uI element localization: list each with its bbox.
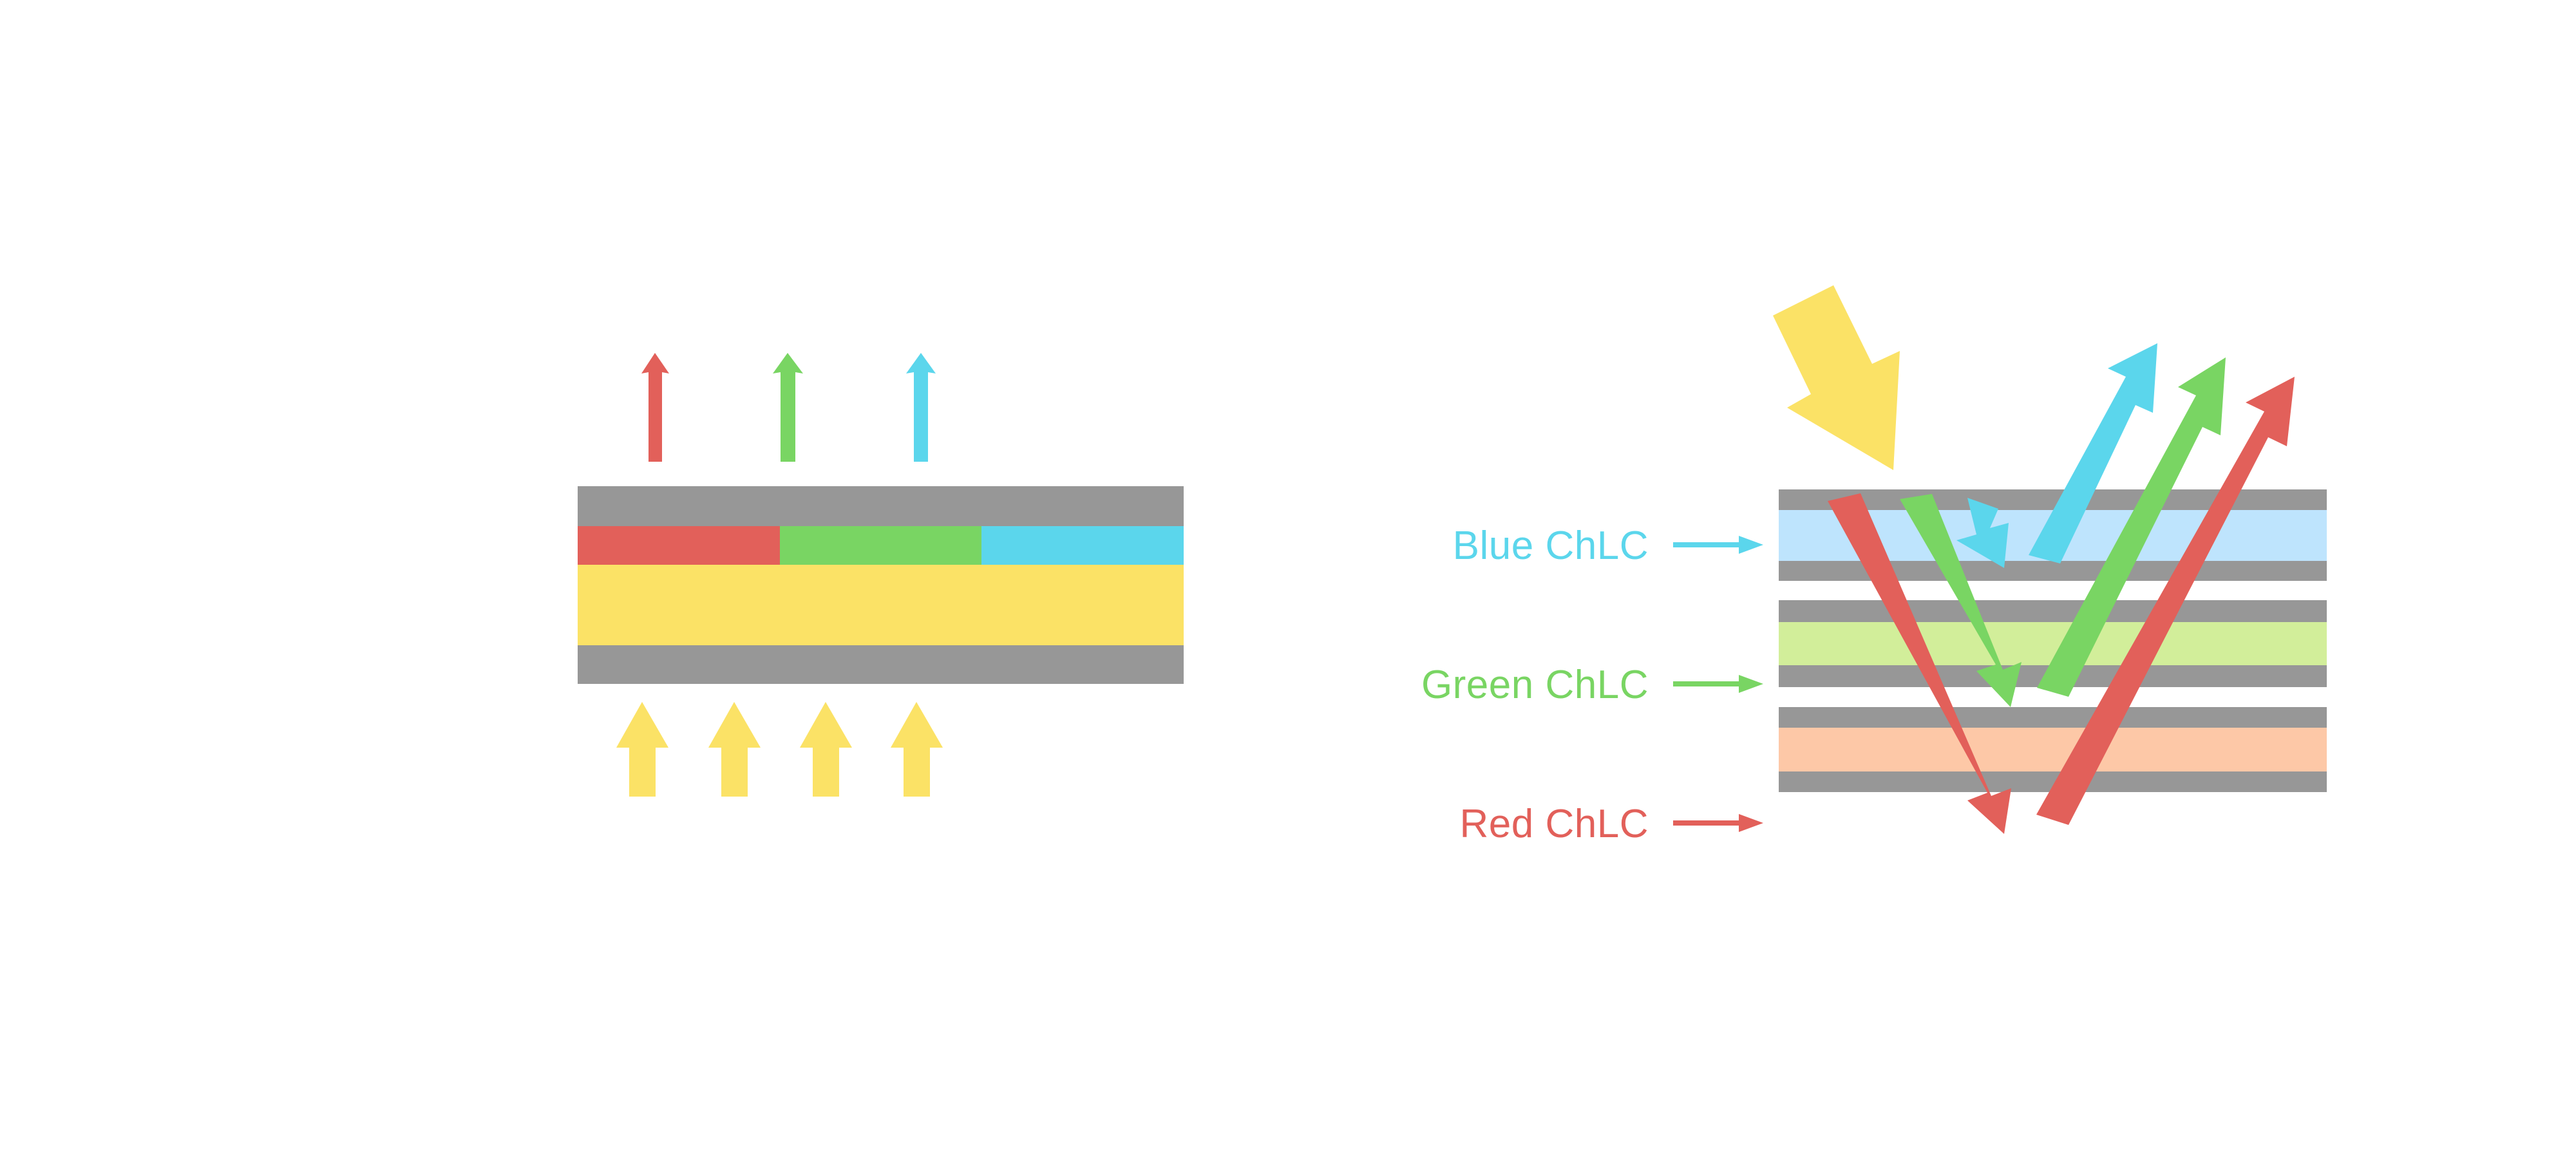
green-top-electrode (1779, 600, 2327, 622)
red-chlc-label: Red ChLC (1460, 802, 1649, 846)
blue-chlc-pointer (1673, 536, 1763, 554)
green-chlc-layer (1779, 622, 2327, 665)
right-label-pointers (1673, 536, 1763, 832)
incident-white-light-arrow (1773, 285, 1900, 470)
red-chlc-pointer (1673, 814, 1763, 832)
diagram-canvas: Blue ChLC Green ChLC Red ChLC (0, 0, 2576, 1154)
blue-bottom-electrode (1779, 561, 2327, 581)
red-top-electrode (1779, 707, 2327, 728)
right-panel-reflective-stack: Blue ChLC Green ChLC Red ChLC (0, 0, 2576, 1154)
red-chlc-layer (1779, 728, 2327, 771)
green-chlc-pointer (1673, 675, 1763, 693)
green-chlc-label: Green ChLC (1421, 663, 1649, 707)
blue-chlc-label: Blue ChLC (1453, 524, 1649, 568)
